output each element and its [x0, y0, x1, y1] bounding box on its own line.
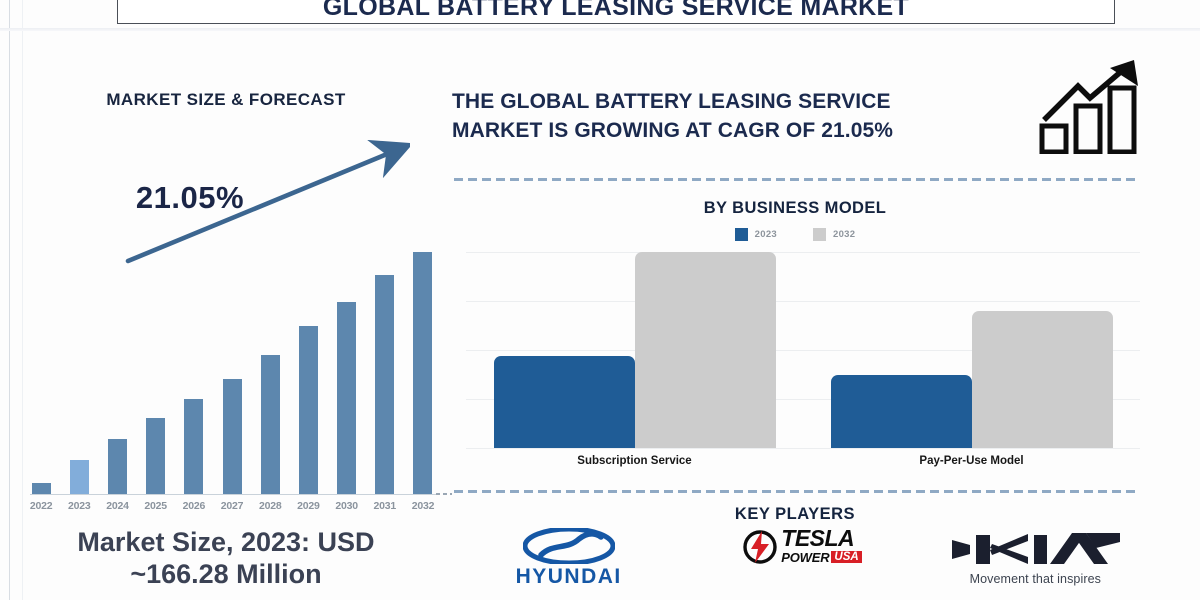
market-size-footer-line1: Market Size, 2023: USD: [0, 527, 452, 559]
tesla-usa-badge: USA: [831, 551, 861, 563]
tesla-wordmark-block: TESLA POWER USA: [781, 528, 861, 565]
legend-swatch: [813, 228, 826, 241]
market-size-x-label: 2022: [22, 500, 60, 512]
tesla-sub-row: POWER USA: [781, 550, 861, 565]
legend-label: 2032: [833, 229, 855, 240]
market-size-footer-line2: ~166.28 Million: [0, 559, 452, 591]
market-size-x-label: 2024: [98, 500, 136, 512]
business-model-x-label: Subscription Service: [466, 455, 803, 467]
legend-label: 2023: [755, 229, 777, 240]
tesla-power-usa-logo-icon: [742, 528, 778, 564]
key-player-hyundai: HYUNDAI: [452, 528, 685, 600]
market-size-bar-cell: [366, 240, 404, 494]
market-size-x-label: 2026: [175, 500, 213, 512]
business-model-title: BY BUSINESS MODEL: [452, 199, 1138, 218]
cagr-headline-line2: MARKET IS GROWING AT CAGR OF 21.05%: [452, 117, 1030, 146]
business-model-x-axis-labels: Subscription ServicePay-Per-Use Model: [466, 455, 1140, 467]
cagr-headline: THE GLOBAL BATTERY LEASING SERVICE MARKE…: [452, 88, 1030, 145]
market-size-bar: [261, 355, 280, 494]
market-size-bar: [184, 399, 203, 494]
business-model-bar: [635, 252, 776, 448]
market-size-bar-cell: [175, 240, 213, 494]
market-size-x-label: 2032: [404, 500, 442, 512]
market-size-bar: [413, 252, 432, 494]
market-size-bar-cell: [251, 240, 289, 494]
market-size-bar: [70, 460, 89, 495]
market-size-bar: [146, 418, 165, 494]
cagr-headline-line1: THE GLOBAL BATTERY LEASING SERVICE: [452, 88, 1030, 117]
business-model-x-label: Pay-Per-Use Model: [803, 455, 1140, 467]
market-size-bar: [223, 379, 242, 494]
right-panel: THE GLOBAL BATTERY LEASING SERVICE MARKE…: [452, 0, 1200, 600]
market-size-bar: [337, 302, 356, 494]
gridline: [466, 448, 1140, 449]
market-size-bar-cell: [404, 240, 442, 494]
divider-bottom: [454, 490, 1136, 493]
tesla-power-word: POWER: [781, 550, 829, 565]
legend-swatch: [735, 228, 748, 241]
market-size-bar: [299, 326, 318, 494]
key-players-logos: HYUNDAI TESLA POWER USA: [452, 528, 1152, 600]
business-model-bars: [466, 252, 1140, 448]
market-size-bar: [375, 275, 394, 494]
tesla-wordmark: TESLA: [781, 528, 861, 550]
business-model-bar-chart: [466, 252, 1140, 448]
market-size-x-label: 2028: [251, 500, 289, 512]
market-size-bar-chart: [22, 240, 442, 495]
business-model-legend: 20232032: [452, 228, 1138, 241]
axis-dash-tail: [436, 493, 452, 495]
market-size-bar-cell: [289, 240, 327, 494]
market-size-axis-line: [30, 494, 438, 495]
hyundai-logo-icon: [523, 528, 615, 564]
market-size-x-label: 2030: [328, 500, 366, 512]
kia-tagline: Movement that inspires: [970, 572, 1101, 586]
business-model-bar: [831, 375, 972, 448]
market-size-bar: [32, 483, 51, 495]
market-size-x-label: 2031: [366, 500, 404, 512]
business-model-group: [466, 252, 803, 448]
market-size-x-axis-labels: 2022202320242025202620272028202920302031…: [22, 500, 442, 512]
market-size-bar-cell: [137, 240, 175, 494]
infographic-root: GLOBAL BATTERY LEASING SERVICE MARKET MA…: [0, 0, 1200, 600]
market-size-bars: [22, 240, 442, 494]
tesla-logo-row: TESLA POWER USA: [742, 528, 861, 565]
legend-item: 2032: [813, 228, 855, 241]
business-model-bar: [494, 356, 635, 448]
market-size-bar-cell: [213, 240, 251, 494]
market-size-x-label: 2025: [137, 500, 175, 512]
business-model-bar: [972, 311, 1113, 448]
market-size-heading: MARKET SIZE & FORECAST: [0, 90, 452, 110]
market-size-bar-cell: [98, 240, 136, 494]
market-size-forecast-panel: MARKET SIZE & FORECAST 21.05% 2022202320…: [0, 40, 452, 600]
business-model-group: [803, 252, 1140, 448]
bar-chart-growth-icon: [1038, 58, 1150, 154]
market-size-bar-cell: [22, 240, 60, 494]
key-player-tesla-power-usa: TESLA POWER USA: [685, 528, 918, 600]
divider-top: [454, 178, 1136, 181]
market-size-footer: Market Size, 2023: USD ~166.28 Million: [0, 527, 452, 591]
kia-logo-icon: [946, 528, 1124, 570]
key-player-kia: Movement that inspires: [919, 528, 1152, 600]
market-size-bar-cell: [328, 240, 366, 494]
hyundai-wordmark: HYUNDAI: [516, 565, 622, 589]
key-players-title: KEY PLAYERS: [452, 505, 1138, 524]
market-size-bar-cell: [60, 240, 98, 494]
market-size-bar: [108, 439, 127, 494]
market-size-x-label: 2029: [289, 500, 327, 512]
market-size-x-label: 2027: [213, 500, 251, 512]
market-size-x-label: 2023: [60, 500, 98, 512]
legend-item: 2023: [735, 228, 777, 241]
